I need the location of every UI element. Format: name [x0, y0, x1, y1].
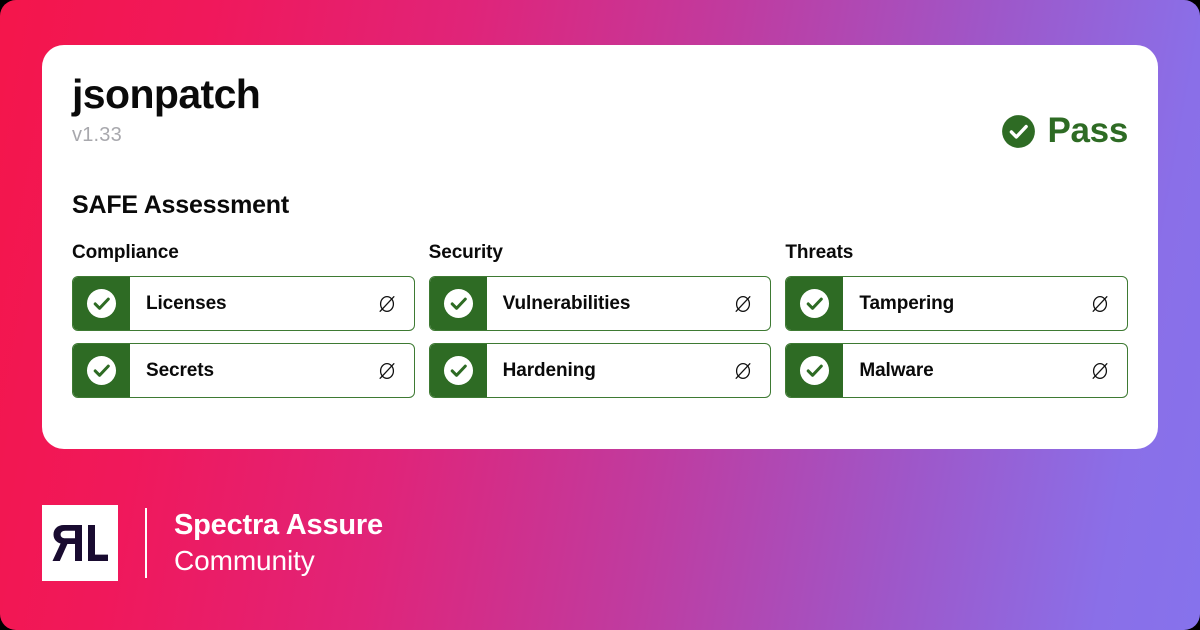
status-badge-label: Pass [1047, 111, 1128, 151]
check-item-label: Licenses [130, 277, 376, 330]
empty-set-icon [1089, 277, 1127, 330]
check-item-label: Tampering [843, 277, 1089, 330]
check-circle-icon [73, 344, 130, 397]
check-circle-icon [786, 344, 843, 397]
report-card: jsonpatch v1.33 Pass SAFE Assessment [42, 45, 1158, 449]
check-item-hardening[interactable]: Hardening [429, 343, 772, 398]
check-item-label: Hardening [487, 344, 733, 397]
empty-set-icon [376, 277, 414, 330]
empty-set-icon [732, 277, 770, 330]
check-circle-icon [786, 277, 843, 330]
card-header: jsonpatch v1.33 Pass [72, 73, 1128, 191]
check-circle-icon [430, 277, 487, 330]
assessment-title: SAFE Assessment [72, 191, 1128, 220]
brand-subtitle: Community [174, 543, 383, 578]
check-circle-icon [73, 277, 130, 330]
package-name: jsonpatch [72, 73, 1128, 116]
assessment-column-security: Security Vulnerabilities [429, 242, 772, 398]
package-version: v1.33 [72, 124, 1128, 147]
badge-canvas: jsonpatch v1.33 Pass SAFE Assessment [0, 0, 1200, 630]
status-badge: Pass [1001, 111, 1128, 151]
reversinglabs-rl-logo [42, 505, 118, 581]
check-item-label: Vulnerabilities [487, 277, 733, 330]
check-circle-icon [430, 344, 487, 397]
brand-title: Spectra Assure [174, 508, 383, 543]
column-title: Threats [785, 242, 1128, 264]
brand-divider [145, 508, 147, 578]
empty-set-icon [732, 344, 770, 397]
assessment-column-threats: Threats Tampering [785, 242, 1128, 398]
check-item-malware[interactable]: Malware [785, 343, 1128, 398]
empty-set-icon [1089, 344, 1127, 397]
check-item-label: Secrets [130, 344, 376, 397]
check-item-vulnerabilities[interactable]: Vulnerabilities [429, 276, 772, 331]
check-item-secrets[interactable]: Secrets [72, 343, 415, 398]
check-circle-icon [1001, 114, 1036, 149]
assessment-column-compliance: Compliance Licenses [72, 242, 415, 398]
brand-text: Spectra Assure Community [174, 508, 383, 579]
check-item-licenses[interactable]: Licenses [72, 276, 415, 331]
empty-set-icon [376, 344, 414, 397]
column-title: Security [429, 242, 772, 264]
column-title: Compliance [72, 242, 415, 264]
check-item-tampering[interactable]: Tampering [785, 276, 1128, 331]
assessment-columns: Compliance Licenses [72, 242, 1128, 398]
check-item-label: Malware [843, 344, 1089, 397]
brand-footer: Spectra Assure Community [42, 505, 383, 581]
